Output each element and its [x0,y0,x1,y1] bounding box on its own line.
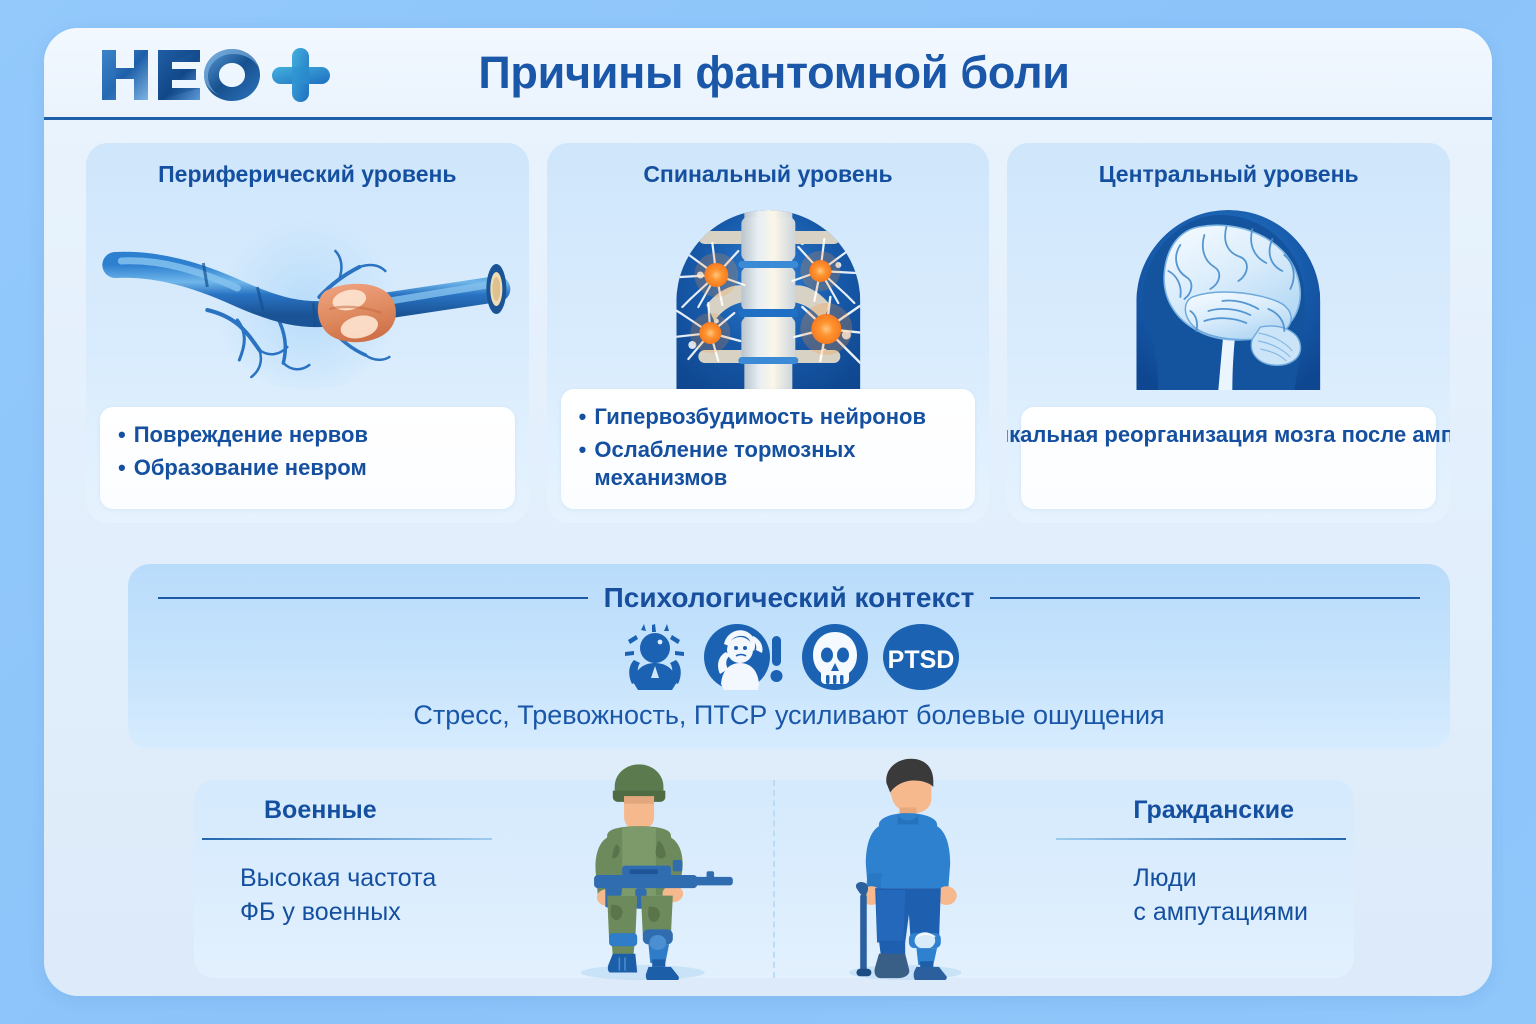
bullet-dot: • [118,421,126,450]
list-item: • Кортикальная реорганизация мозга после… [1039,421,1420,450]
bullet-dot: • [579,403,587,432]
population-groups: Военные Высокая частота ФБ у военных [194,780,1354,978]
bullet-dot: • [579,436,587,465]
bullet-text: Повреждение нервов [134,421,499,450]
psy-icon-row: PTSD [128,622,1450,692]
group-title-military: Военные [264,796,377,825]
ptsd-badge-icon[interactable]: PTSD [882,622,960,692]
bullet-text: Образование невром [134,454,499,483]
bullets-central: • Кортикальная реорганизация мозга после… [1021,407,1436,509]
psy-title: Психологический контекст [604,582,975,614]
nerve-neuroma-illustration [86,205,529,390]
neo-plus-logo [96,46,346,104]
skull-icon[interactable] [800,622,870,692]
header-bar: Причины фантомной боли [44,28,1492,120]
civilian-with-prosthetic-figure [793,755,1023,980]
group-desc-line: с ампутациями [1133,896,1308,930]
level-title-peripheral: Периферический уровень [86,161,529,188]
bullets-peripheral: • Повреждение нервов • Образование невро… [100,407,515,509]
infographic-card: Причины фантомной боли Периферический ур… [44,28,1492,996]
level-card-peripheral[interactable]: Периферический уровень [86,143,529,523]
list-item: • Образование невром [118,454,499,483]
group-card-military[interactable]: Военные Высокая частота ФБ у военных [194,780,773,978]
rule-right [990,597,1420,599]
group-desc-military: Высокая частота ФБ у военных [240,862,436,930]
group-rule [1056,838,1346,840]
anxious-person-exclamation-icon[interactable] [704,622,788,692]
level-card-central[interactable]: Центральный уровень [1007,143,1450,523]
bullets-spinal: • Гипервозбудимость нейронов • Ослаблени… [561,389,976,509]
list-item: • Гипервозбудимость нейронов [579,403,960,432]
level-title-spinal: Спинальный уровень [547,161,990,188]
rule-left [158,597,588,599]
page-title: Причины фантомной боли [374,47,1174,99]
list-item: • Повреждение нервов [118,421,499,450]
ptsd-label: PTSD [888,646,955,674]
group-desc-line: Люди [1133,862,1308,896]
spinal-cord-neurons-illustration [547,205,990,390]
psy-header: Психологический контекст [128,582,1450,614]
group-desc-civilian: Люди с ампутациями [1133,862,1308,930]
group-title-civilian: Гражданские [1133,796,1294,825]
stressed-person-icon[interactable] [618,622,692,692]
level-title-central: Центральный уровень [1007,161,1450,188]
bullet-text: Гипервозбудимость нейронов [594,403,959,432]
group-card-civilian[interactable]: Гражданские Люди с ампутациями [773,780,1354,978]
group-desc-line: ФБ у военных [240,896,436,930]
brain-head-illustration [1007,205,1450,390]
levels-row: Периферический уровень [86,143,1450,523]
bullet-dot: • [118,454,126,483]
level-card-spinal[interactable]: Спинальный уровень [547,143,990,523]
bullet-text: Кортикальная реорганизация мозга после а… [1007,421,1450,450]
list-item: • Ослабление тормозных механизмов [579,436,960,493]
psy-caption: Стресс, Тревожность, ПТСР усиливают боле… [128,700,1450,731]
psychological-context-panel: Психологический контекст [128,564,1450,749]
bullet-text: Ослабление тормозных механизмов [594,436,959,493]
group-rule [202,838,492,840]
group-desc-line: Высокая частота [240,862,436,896]
soldier-with-prosthetic-figure [525,755,755,980]
